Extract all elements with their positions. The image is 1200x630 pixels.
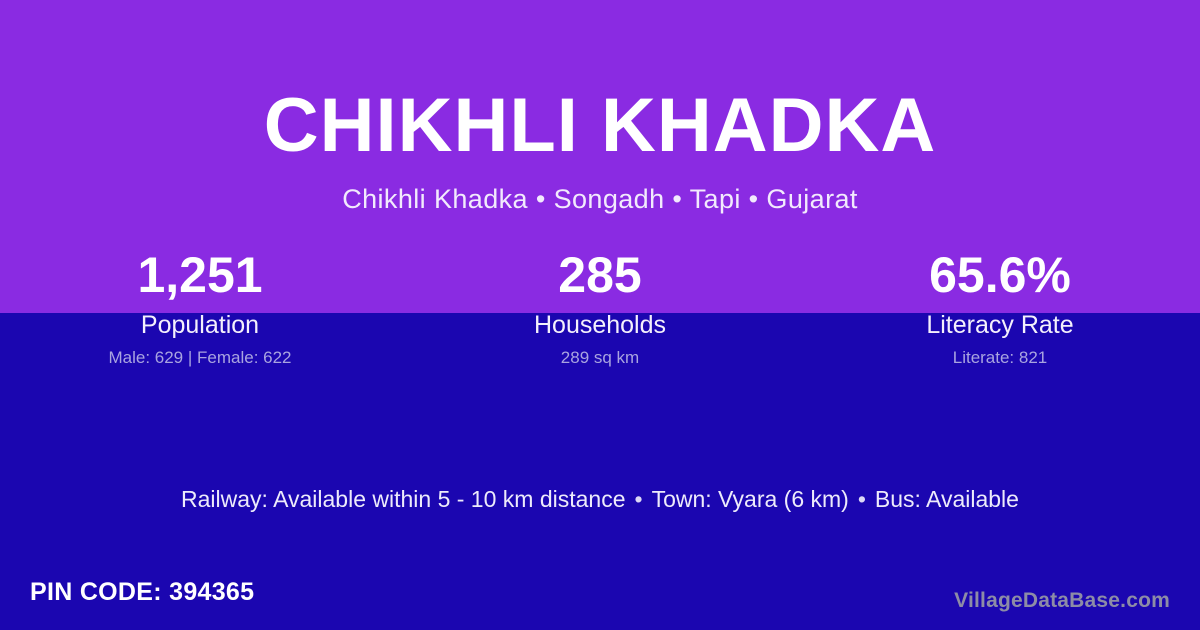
infra-railway: Railway: Available within 5 - 10 km dist… [181,486,625,512]
stat-literacy-rate-value: 65.6% [800,246,1200,304]
infra-separator-1: • [626,484,652,514]
stats-row: 1,251 Population Male: 629 | Female: 622… [0,246,1200,386]
infra-town: Town: Vyara (6 km) [652,486,849,512]
site-brand: VillageDataBase.com [954,588,1170,614]
page-title: CHIKHLI KHADKA [0,80,1200,172]
stat-literacy-rate-label: Literacy Rate [800,310,1200,340]
infra-separator-2: • [849,484,875,514]
stat-households: 285 Households 289 sq km [400,246,800,386]
stat-population: 1,251 Population Male: 629 | Female: 622 [0,246,400,386]
stat-literacy-rate-sub: Literate: 821 [800,347,1200,368]
village-info-card: CHIKHLI KHADKA Chikhli Khadka • Songadh … [0,0,1200,630]
stat-literacy-rate: 65.6% Literacy Rate Literate: 821 [800,246,1200,386]
stat-population-sub: Male: 629 | Female: 622 [0,347,400,368]
breadcrumb: Chikhli Khadka • Songadh • Tapi • Gujara… [0,181,1200,217]
stat-households-label: Households [400,310,800,340]
stat-population-label: Population [0,310,400,340]
infra-bus: Bus: Available [875,486,1019,512]
stat-population-value: 1,251 [0,246,400,304]
infrastructure-line: Railway: Available within 5 - 10 km dist… [0,484,1200,514]
stat-households-sub: 289 sq km [400,347,800,368]
footer: PIN CODE: 394365 VillageDataBase.com [0,570,1200,630]
stat-households-value: 285 [400,246,800,304]
pin-code-label: PIN CODE: 394365 [30,577,254,607]
